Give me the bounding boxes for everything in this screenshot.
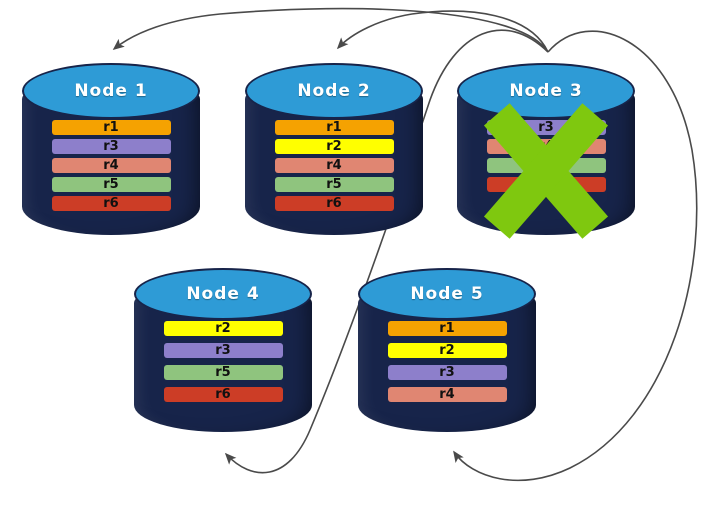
node-3-top: Node 3 xyxy=(457,63,635,119)
arrow-to-node-1 xyxy=(114,9,548,52)
replica-bar[interactable]: r3 xyxy=(388,365,507,380)
replica-bar[interactable]: r3 xyxy=(164,343,283,358)
node-1-top: Node 1 xyxy=(22,63,200,119)
node-5-replicas: r1 r2 r3 r4 xyxy=(358,321,536,402)
replica-bar[interactable]: r6 xyxy=(487,177,606,192)
replica-bar[interactable]: r6 xyxy=(52,196,171,211)
diagram-canvas: Node 1 r1 r3 r4 r5 r6 Node 2 r1 r2 r4 r5… xyxy=(0,0,708,508)
arrow-to-node-2 xyxy=(338,11,548,52)
node-5-top: Node 5 xyxy=(358,268,536,320)
replica-bar[interactable]: r3 xyxy=(487,120,606,135)
node-4-replicas: r2 r3 r5 r6 xyxy=(134,321,312,402)
replica-bar[interactable]: r4 xyxy=(388,387,507,402)
node-1[interactable]: Node 1 r1 r3 r4 r5 r6 xyxy=(22,63,200,235)
node-5-label: Node 5 xyxy=(410,284,483,304)
replica-bar[interactable]: r5 xyxy=(487,158,606,173)
replica-bar[interactable]: r5 xyxy=(275,177,394,192)
replica-bar[interactable]: r4 xyxy=(52,158,171,173)
node-4-top: Node 4 xyxy=(134,268,312,320)
replica-bar[interactable]: r5 xyxy=(164,365,283,380)
node-1-replicas: r1 r3 r4 r5 r6 xyxy=(22,120,200,211)
node-1-label: Node 1 xyxy=(74,81,147,101)
replica-bar[interactable]: r4 xyxy=(487,139,606,154)
node-3[interactable]: Node 3 r3 r4 r5 r6 xyxy=(457,63,635,235)
node-3-label: Node 3 xyxy=(509,81,582,101)
node-5[interactable]: Node 5 r1 r2 r3 r4 xyxy=(358,268,536,432)
node-4-label: Node 4 xyxy=(186,284,259,304)
replica-bar[interactable]: r2 xyxy=(164,321,283,336)
replica-bar[interactable]: r2 xyxy=(275,139,394,154)
replica-bar[interactable]: r1 xyxy=(275,120,394,135)
node-3-replicas: r3 r4 r5 r6 xyxy=(457,120,635,192)
node-2[interactable]: Node 2 r1 r2 r4 r5 r6 xyxy=(245,63,423,235)
node-4[interactable]: Node 4 r2 r3 r5 r6 xyxy=(134,268,312,432)
replica-bar[interactable]: r1 xyxy=(388,321,507,336)
node-2-top: Node 2 xyxy=(245,63,423,119)
replica-bar[interactable]: r2 xyxy=(388,343,507,358)
replica-bar[interactable]: r4 xyxy=(275,158,394,173)
replica-bar[interactable]: r3 xyxy=(52,139,171,154)
replica-bar[interactable]: r1 xyxy=(52,120,171,135)
replica-bar[interactable]: r5 xyxy=(52,177,171,192)
replica-bar[interactable]: r6 xyxy=(164,387,283,402)
node-2-label: Node 2 xyxy=(297,81,370,101)
node-2-replicas: r1 r2 r4 r5 r6 xyxy=(245,120,423,211)
replica-bar[interactable]: r6 xyxy=(275,196,394,211)
